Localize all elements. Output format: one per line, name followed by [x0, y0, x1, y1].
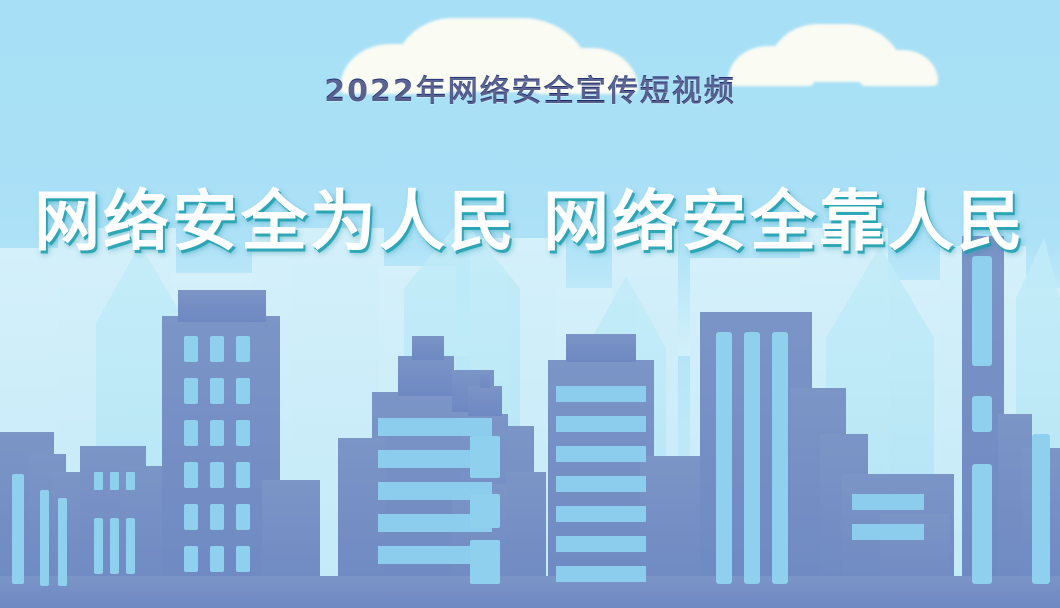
poster-headline: 网络安全为人民网络安全靠人民 [0, 168, 1060, 264]
headline-part-2: 网络安全靠人民 [543, 183, 1026, 260]
headline-part-1: 网络安全为人民 [34, 183, 517, 260]
poster-canvas: 2022年网络安全宣传短视频 网络安全为人民网络安全靠人民 [0, 0, 1060, 608]
cityscape-illustration [0, 228, 1060, 608]
poster-subtitle: 2022年网络安全宣传短视频 [0, 66, 1060, 110]
